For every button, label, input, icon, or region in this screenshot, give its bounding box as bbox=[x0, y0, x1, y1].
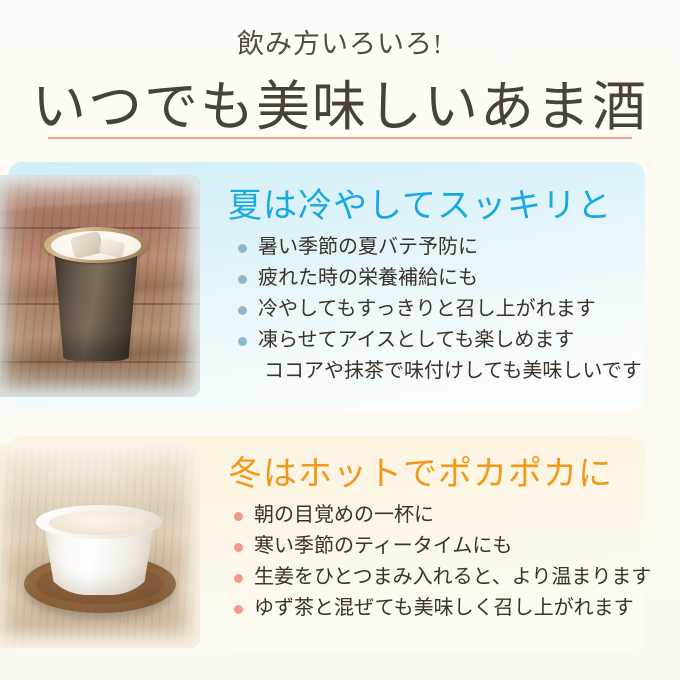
list-item: 朝の目覚めの一杯に bbox=[234, 500, 651, 531]
bullet-dot-icon bbox=[238, 275, 247, 284]
winter-heading: 冬はホットでポカポカに bbox=[228, 446, 613, 495]
bullet-dot-icon bbox=[234, 512, 243, 521]
list-item-label: 朝の目覚めの一杯に bbox=[254, 504, 434, 526]
list-item-label: 生姜をひとつまみ入れると、より温まります bbox=[254, 566, 651, 588]
list-item-subline: ココアや抹茶で味付けしても美味しいです bbox=[258, 356, 642, 386]
list-item-label: 凍らせてアイスとしても楽しめます bbox=[258, 329, 574, 351]
list-item: 寒い季節のティータイムにも bbox=[234, 531, 651, 562]
list-item: 疲れた時の栄養補給にも bbox=[238, 263, 642, 294]
bullet-dot-icon bbox=[238, 306, 247, 315]
bullet-dot-icon bbox=[234, 605, 243, 614]
summer-bullet-list: 暑い季節の夏バテ予防に 疲れた時の栄養補給にも 冷やしてもすっきりと召し上がれま… bbox=[238, 232, 642, 386]
infographic-page: 飲み方いろいろ! いつでも美味しいあま酒 夏は冷やしてスッキリと 暑い季節の夏バ… bbox=[0, 0, 680, 680]
summer-photo-image bbox=[0, 175, 200, 397]
list-item: 生姜をひとつまみ入れると、より温まります bbox=[234, 562, 651, 593]
list-item-label: 寒い季節のティータイムにも bbox=[254, 535, 512, 557]
plank-seam bbox=[0, 361, 200, 363]
bullet-dot-icon bbox=[238, 337, 247, 346]
ceramic-tumbler bbox=[44, 209, 148, 361]
list-item: 凍らせてアイスとしても楽しめます ココアや抹茶で味付けしても美味しいです bbox=[238, 325, 642, 386]
winter-bullet-list: 朝の目覚めの一杯に 寒い季節のティータイムにも 生姜をひとつまみ入れると、より温… bbox=[234, 500, 651, 624]
winter-photo-image bbox=[0, 443, 200, 648]
bullet-dot-icon bbox=[234, 543, 243, 552]
list-item-label: ゆず茶と混ぜても美味しく召し上がれます bbox=[254, 597, 634, 619]
page-header: 飲み方いろいろ! いつでも美味しいあま酒 bbox=[0, 0, 680, 145]
list-item-label: 暑い季節の夏バテ予防に bbox=[258, 236, 478, 258]
list-item-label: 疲れた時の栄養補給にも bbox=[258, 267, 478, 289]
summer-heading: 夏は冷やしてスッキリと bbox=[228, 178, 612, 227]
bullet-dot-icon bbox=[234, 574, 243, 583]
list-item: 暑い季節の夏バテ予防に bbox=[238, 232, 642, 263]
winter-photo bbox=[0, 443, 200, 648]
list-item-label: 冷やしてもすっきりと召し上がれます bbox=[258, 298, 596, 320]
title-divider bbox=[48, 137, 632, 139]
page-title: いつでも美味しいあま酒 bbox=[0, 62, 680, 141]
white-cup bbox=[36, 505, 162, 595]
amazake-surface bbox=[49, 511, 149, 535]
header-kicker: 飲み方いろいろ! bbox=[0, 22, 680, 61]
bullet-dot-icon bbox=[238, 244, 247, 253]
summer-photo bbox=[0, 175, 200, 397]
list-item: 冷やしてもすっきりと召し上がれます bbox=[238, 294, 642, 325]
list-item: ゆず茶と混ぜても美味しく召し上がれます bbox=[234, 593, 651, 624]
